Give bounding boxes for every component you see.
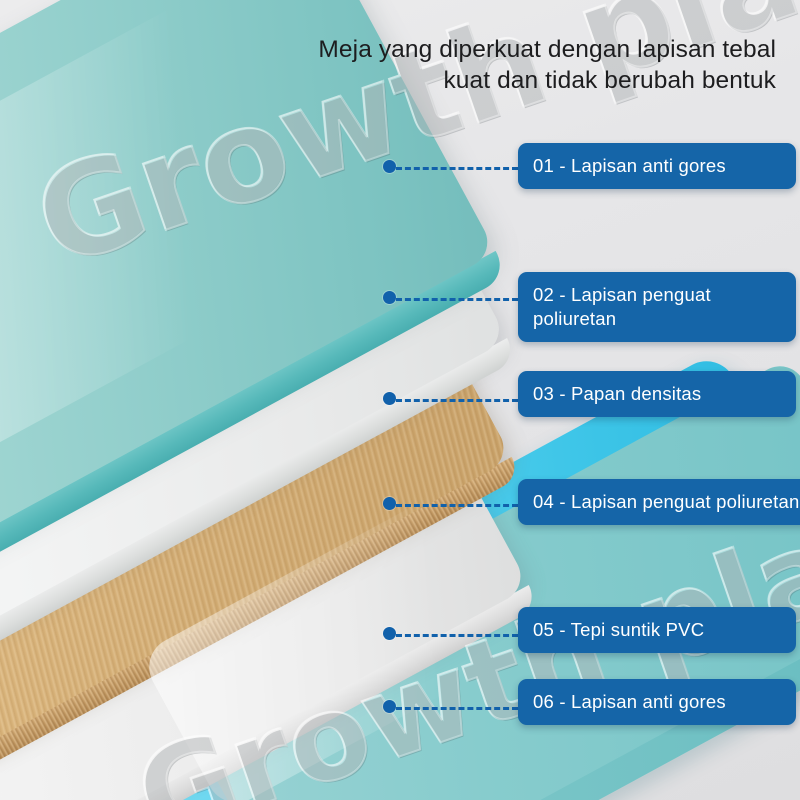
callout-label-05[interactable]: 05 - Tepi suntik PVC xyxy=(518,607,796,653)
callout-label-04[interactable]: 04 - Lapisan penguat poliuretan xyxy=(518,479,800,525)
callout-leader-line xyxy=(396,298,518,301)
callout-dot-icon xyxy=(383,700,396,713)
page-title-line-1: Meja yang diperkuat dengan lapisan tebal xyxy=(216,34,776,65)
callout-label-02[interactable]: 02 - Lapisan penguat poliuretan xyxy=(518,272,796,342)
callout-leader-line xyxy=(396,504,518,507)
callout-label-01[interactable]: 01 - Lapisan anti gores xyxy=(518,143,796,189)
callout-label-06[interactable]: 06 - Lapisan anti gores xyxy=(518,679,796,725)
callout-leader-line xyxy=(396,707,518,710)
page-title: Meja yang diperkuat dengan lapisan tebal… xyxy=(216,34,776,96)
callout-leader-line xyxy=(396,399,518,402)
callout-dot-icon xyxy=(383,392,396,405)
callout-leader-line xyxy=(396,634,518,637)
callout-leader-line xyxy=(396,167,518,170)
callout-dot-icon xyxy=(383,497,396,510)
callout-dot-icon xyxy=(383,291,396,304)
callout-dot-icon xyxy=(383,160,396,173)
callout-label-03[interactable]: 03 - Papan densitas xyxy=(518,371,796,417)
product-infographic: Growth plan Growth plan Meja yang diperk… xyxy=(0,0,800,800)
callout-dot-icon xyxy=(383,627,396,640)
page-title-line-2: kuat dan tidak berubah bentuk xyxy=(216,65,776,96)
